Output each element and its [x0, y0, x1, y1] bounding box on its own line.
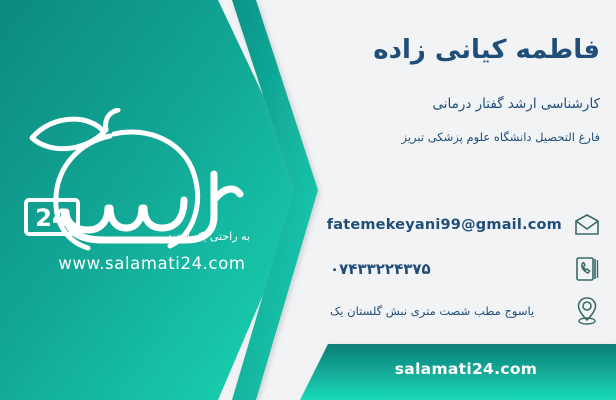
- business-card: 24 به راحتی یک لبخند www.salamati24.com …: [0, 0, 616, 400]
- logo: 24 به راحتی یک لبخند www.salamati24.com: [18, 108, 286, 280]
- contact-row-address[interactable]: یاسوج مطب شصت متری نبش گلستان یک: [330, 294, 602, 328]
- phone-book-icon: [572, 252, 602, 286]
- contact-row-email[interactable]: fatemekeyani99@gmail.com: [330, 208, 602, 242]
- person-education: فارغ التحصیل دانشگاه علوم پزشکی تبریز: [332, 131, 600, 145]
- logo-website-url: www.salamati24.com: [32, 254, 272, 273]
- person-job-title: کارشناسی ارشد گفتار درمانی: [332, 96, 600, 112]
- address-value[interactable]: یاسوج مطب شصت متری نبش گلستان یک: [330, 304, 562, 318]
- phone-value[interactable]: ۰۷۴۳۳۲۲۴۳۷۵: [330, 260, 562, 278]
- footer-website[interactable]: salamati24.com: [366, 360, 566, 378]
- location-pin-icon: [572, 294, 602, 328]
- envelope-icon: [572, 208, 602, 242]
- svg-text:24: 24: [35, 204, 68, 232]
- card-content: فاطمه کیانی زاده کارشناسی ارشد گفتار درم…: [316, 0, 616, 400]
- contact-row-phone[interactable]: ۰۷۴۳۳۲۲۴۳۷۵: [330, 252, 602, 286]
- logo-tagline: به راحتی یک لبخند: [167, 230, 250, 243]
- email-value[interactable]: fatemekeyani99@gmail.com: [327, 217, 562, 233]
- person-name: فاطمه کیانی زاده: [332, 36, 600, 66]
